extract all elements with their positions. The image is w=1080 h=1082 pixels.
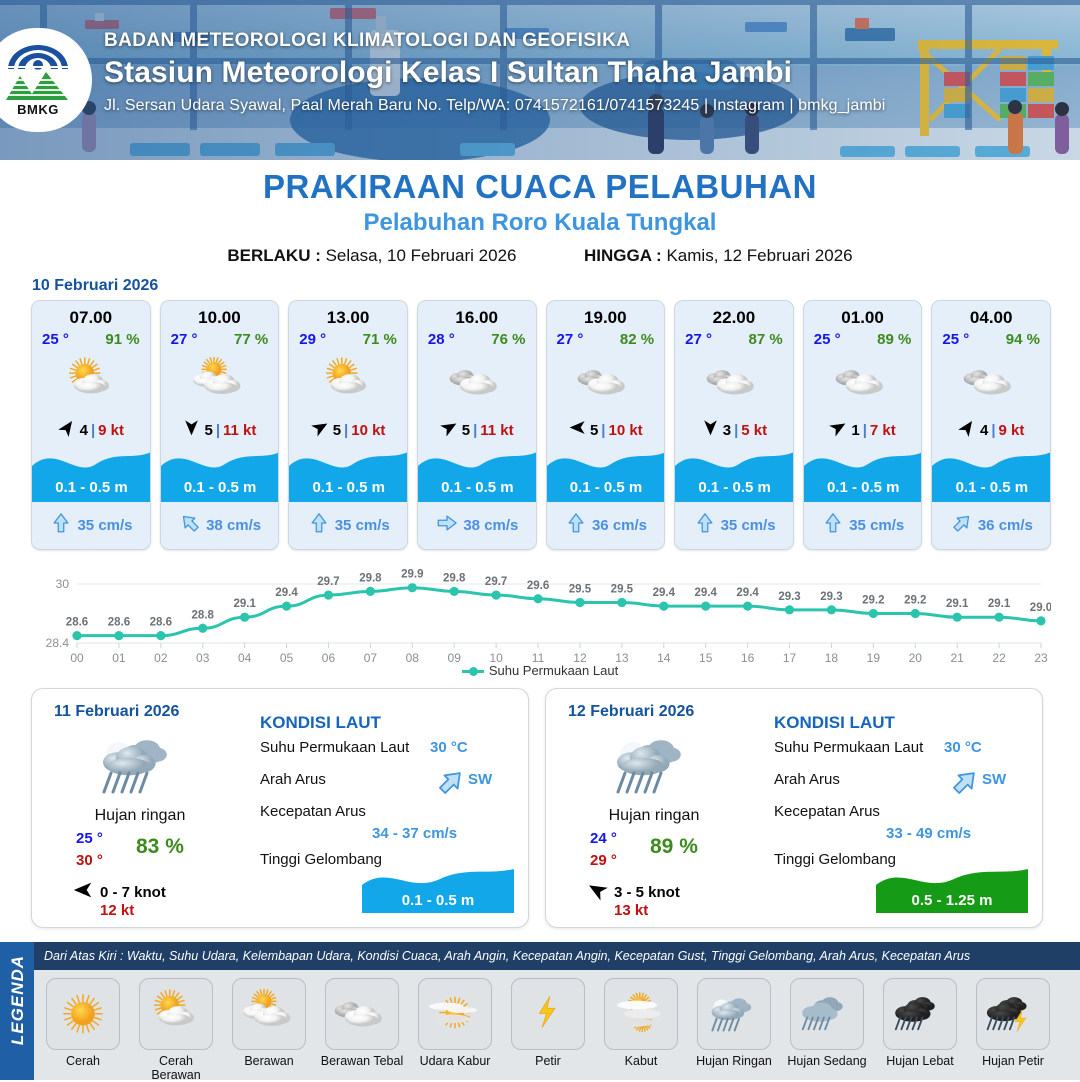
svg-text:29.2: 29.2 [904,595,926,607]
valid-from-value: Selasa, 10 Februari 2026 [326,246,517,265]
card-current-speed: 35 cm/s [335,517,390,534]
svg-text:29.1: 29.1 [233,598,256,610]
weather-icon-berawan-tebal [446,357,508,407]
card-current-row: 35 cm/s [32,509,151,541]
card-current-row: 38 cm/s [161,509,280,541]
card-current-speed: 36 cm/s [592,517,647,534]
current-direction-arrow [694,512,716,534]
svg-text:29.5: 29.5 [569,583,592,595]
svg-text:29.8: 29.8 [359,572,382,584]
card-current-speed: 35 cm/s [77,517,132,534]
header-text-block: BADAN METEOROLOGI KLIMATOLOGI DAN GEOFIS… [104,30,885,115]
daily-temp-min: 24 ° [590,830,617,847]
card-humidity: 71 % [363,331,397,348]
agency-name: BADAN METEOROLOGI KLIMATOLOGI DAN GEOFIS… [104,30,885,52]
svg-text:28.6: 28.6 [150,617,172,629]
daily-wave-graphic: 0.5 - 1.25 m [876,869,1028,913]
legend-item-label: Cerah Berawan [133,1054,219,1082]
legend-icon-box [232,978,306,1050]
daily-humidity: 83 % [136,835,184,859]
hourly-date-label: 10 Februari 2026 [32,277,158,295]
legend-item-label: Hujan Petir [970,1054,1056,1068]
card-temperature: 25 ° [942,331,969,348]
daily-gust: 13 kt [614,902,648,919]
svg-text:28.6: 28.6 [66,617,88,629]
daily-temp-max: 29 ° [590,852,617,869]
weather-icon-berawan-tebal [832,357,894,407]
card-current-speed: 36 cm/s [978,517,1033,534]
card-wave-graphic: 0.1 - 0.5 m [161,444,280,502]
daily-weather-icon [89,725,189,811]
weather-icon-berawan [188,357,250,407]
card-wind-speed: 10 kt [608,422,642,439]
svg-text:29.4: 29.4 [275,587,298,599]
weather-icon-hujan-petir [982,989,1044,1039]
weather-icon-berawan-tebal [703,357,765,407]
card-humidity: 82 % [620,331,654,348]
card-wind-direction: 4 [80,422,88,439]
card-temperature: 27 ° [171,331,198,348]
legend-item-label: Kabut [598,1054,684,1068]
svg-text:29.1: 29.1 [946,598,969,610]
daily-sea-section-title: KONDISI LAUT [260,713,381,733]
daily-sst-value: 30 °C [430,739,468,756]
legend-item-label: Hujan Ringan [691,1054,777,1068]
svg-text:29.4: 29.4 [695,587,718,599]
svg-text:29.0: 29.0 [1030,602,1051,614]
card-sep: | [91,422,95,439]
valid-until-value: Kamis, 12 Februari 2026 [666,246,852,265]
current-direction-arrow [565,512,587,534]
legend-item: Cerah [40,978,126,1082]
weather-icon-petir [517,989,579,1039]
card-time: 19.00 [547,308,665,328]
chart-legend-label: Suhu Permukaan Laut [489,663,618,678]
hourly-card[interactable]: 13.0029 °71 %5|10 kt0.1 - 0.5 m35 cm/s [288,300,408,550]
legend-item: Berawan [226,978,312,1082]
card-sep: | [601,422,605,439]
svg-text:29.6: 29.6 [527,580,549,592]
daily-current-dir-label: Arah Arus [774,771,840,788]
card-current-speed: 38 cm/s [206,517,261,534]
legend-item-label: Berawan Tebal [319,1054,405,1068]
daily-wave-value: 0.5 - 1.25 m [876,892,1028,909]
svg-text:30: 30 [56,577,70,591]
card-temperature: 25 ° [814,331,841,348]
card-wave-height: 0.1 - 0.5 m [675,472,794,502]
daily-wave-graphic: 0.1 - 0.5 m [362,869,514,913]
weather-icon-cerah [52,989,114,1039]
card-time: 22.00 [675,308,793,328]
daily-wave-label: Tinggi Gelombang [260,851,382,868]
daily-humidity: 89 % [650,835,698,859]
card-current-row: 35 cm/s [289,509,408,541]
legend-side-text: LEGENDA [8,944,28,1056]
wind-direction-arrow [586,879,608,901]
svg-text:28.8: 28.8 [192,609,215,621]
card-wind-direction: 5 [462,422,470,439]
card-wave-height: 0.1 - 0.5 m [161,472,280,502]
wind-direction-arrow [440,418,459,437]
hourly-card[interactable]: 04.0025 °94 %4|9 kt0.1 - 0.5 m36 cm/s [931,300,1051,550]
page-title: PRAKIRAAN CUACA PELABUHAN [0,168,1080,206]
sst-chart: 3028.40001020304050607080910111213141516… [31,558,1051,673]
svg-text:29.2: 29.2 [862,595,884,607]
card-current-row: 35 cm/s [804,509,923,541]
daily-temp-min: 25 ° [76,830,103,847]
current-direction-arrow [950,767,980,797]
card-humidity: 77 % [234,331,268,348]
weather-icon-hujan-ringan [89,725,189,805]
hourly-card[interactable]: 19.0027 °82 %5|10 kt0.1 - 0.5 m36 cm/s [546,300,666,550]
weather-icon-cerah-berawan [317,357,379,407]
card-temperature: 27 ° [685,331,712,348]
card-wave-graphic: 0.1 - 0.5 m [932,444,1051,502]
card-wind-speed: 7 kt [870,422,896,439]
card-weather-icon-slot [32,351,150,413]
legend-side-title: LEGENDA [0,942,34,1080]
legend-item-list: CerahCerah BerawanBerawanBerawan TebalUd… [34,978,1080,1082]
card-wave-height: 0.1 - 0.5 m [32,472,151,502]
card-wave-graphic: 0.1 - 0.5 m [804,444,923,502]
legend-icon-box [46,978,120,1050]
wind-direction-arrow [958,418,977,437]
card-wind-speed: 10 kt [351,422,385,439]
legend-note: Dari Atas Kiri : Waktu, Suhu Udara, Kele… [34,942,1080,970]
card-wind-row: 5|11 kt [161,415,279,445]
hourly-card[interactable]: 01.0025 °89 %1|7 kt0.1 - 0.5 m35 cm/s [803,300,923,550]
card-time: 01.00 [804,308,922,328]
daily-wave-label: Tinggi Gelombang [774,851,896,868]
current-direction-arrow [50,512,72,534]
card-wave-graphic: 0.1 - 0.5 m [418,444,537,502]
legend-item-label: Hujan Lebat [877,1054,963,1068]
daily-date: 12 Februari 2026 [568,703,694,721]
card-wave-height: 0.1 - 0.5 m [932,472,1051,502]
legend-item-label: Udara Kabur [412,1054,498,1068]
daily-temp-max: 30 ° [76,852,103,869]
daily-condition: Hujan ringan [50,807,230,825]
daily-condition: Hujan ringan [564,807,744,825]
daily-weather-icon [603,725,703,811]
weather-icon-udara-kabur [424,989,486,1039]
legend-icon-box [604,978,678,1050]
daily-current-speed-value: 34 - 37 cm/s [372,825,457,842]
weather-icon-berawan-tebal [574,357,636,407]
daily-wind-speed: 3 - 5 knot [614,884,680,901]
wind-direction-arrow [568,418,587,437]
svg-text:29.4: 29.4 [653,587,676,599]
card-current-speed: 35 cm/s [721,517,776,534]
card-current-speed: 35 cm/s [849,517,904,534]
card-time: 16.00 [418,308,536,328]
card-wave-height: 0.1 - 0.5 m [804,472,923,502]
daily-wave-value: 0.1 - 0.5 m [362,892,514,909]
hourly-forecast-row: 07.0025 °91 %4|9 kt0.1 - 0.5 m35 cm/s10.… [31,300,1051,548]
page-header: BMKG BADAN METEOROLOGI KLIMATOLOGI DAN G… [0,0,1080,160]
card-weather-icon-slot [418,351,536,413]
daily-wind-speed: 0 - 7 knot [100,884,166,901]
legend-icon-box [511,978,585,1050]
legend-item: Kabut [598,978,684,1082]
weather-icon-berawan [238,989,300,1039]
card-sep: | [863,422,867,439]
weather-icon-berawan-tebal [331,989,393,1039]
svg-text:29.4: 29.4 [736,587,759,599]
card-weather-icon-slot [289,351,407,413]
card-wave-graphic: 0.1 - 0.5 m [289,444,408,502]
card-wave-graphic: 0.1 - 0.5 m [675,444,794,502]
card-humidity: 89 % [877,331,911,348]
wind-direction-arrow [182,418,201,437]
weather-icon-hujan-ringan [703,989,765,1039]
weather-icon-hujan-ringan [603,725,703,805]
svg-text:28.6: 28.6 [108,617,130,629]
weather-icon-cerah-berawan [60,357,122,407]
card-current-row: 38 cm/s [418,509,537,541]
card-current-row: 36 cm/s [547,509,666,541]
card-wind-row: 4|9 kt [932,415,1050,445]
card-weather-icon-slot [804,351,922,413]
card-temperature: 27 ° [557,331,584,348]
card-wind-speed: 11 kt [223,422,256,439]
weather-icon-hujan-sedang [796,989,858,1039]
card-sep: | [991,422,995,439]
card-wind-direction: 4 [980,422,988,439]
daily-panel-2: 12 Februari 2026Hujan ringan24 °29 °89 %… [545,688,1043,928]
legend-item-label: Hujan Sedang [784,1054,870,1068]
daily-date: 11 Februari 2026 [54,703,179,721]
legend-item-label: Berawan [226,1054,312,1068]
card-time: 04.00 [932,308,1050,328]
legend-icon-box [418,978,492,1050]
svg-text:28.4: 28.4 [46,636,70,650]
legend-item: Cerah Berawan [133,978,219,1082]
card-temperature: 28 ° [428,331,455,348]
card-sep: | [216,422,220,439]
card-wave-graphic: 0.1 - 0.5 m [547,444,666,502]
svg-text:29.8: 29.8 [443,572,466,584]
card-wind-speed: 5 kt [741,422,767,439]
daily-gust: 12 kt [100,902,134,919]
card-wave-height: 0.1 - 0.5 m [289,472,408,502]
legend-item: Udara Kabur [412,978,498,1082]
wind-direction-arrow [701,418,720,437]
legend-icon-box [697,978,771,1050]
card-wave-height: 0.1 - 0.5 m [547,472,666,502]
card-humidity: 76 % [491,331,525,348]
legend-item: Hujan Sedang [784,978,870,1082]
current-direction-arrow [436,767,466,797]
card-wind-row: 1|7 kt [804,415,922,445]
current-direction-arrow [308,512,330,534]
card-wind-speed: 9 kt [98,422,124,439]
card-wind-row: 4|9 kt [32,415,150,445]
daily-current-dir-label: Arah Arus [260,771,326,788]
weather-icon-cerah-berawan [145,989,207,1039]
daily-current-speed-value: 33 - 49 cm/s [886,825,971,842]
card-wind-direction: 5 [204,422,212,439]
daily-current-dir-value: SW [982,771,1006,788]
current-direction-arrow [179,512,201,534]
svg-text:29.3: 29.3 [820,591,842,603]
card-wind-row: 3|5 kt [675,415,793,445]
daily-sst-label: Suhu Permukaan Laut [260,739,409,756]
svg-text:29.3: 29.3 [778,591,800,603]
card-weather-icon-slot [932,351,1050,413]
valid-until-label: HINGGA : [584,246,662,265]
card-humidity: 91 % [105,331,139,348]
card-wind-direction: 3 [723,422,731,439]
hourly-card[interactable]: 16.0028 °76 %5|11 kt0.1 - 0.5 m38 cm/s [417,300,537,550]
station-name: Stasiun Meteorologi Kelas I Sultan Thaha… [104,56,885,90]
current-direction-arrow [822,512,844,534]
svg-text:29.9: 29.9 [401,569,423,581]
legend-item: Petir [505,978,591,1082]
card-wind-row: 5|11 kt [418,415,536,445]
legend-item: Berawan Tebal [319,978,405,1082]
daily-sst-value: 30 °C [944,739,982,756]
wind-direction-arrow [311,418,330,437]
card-humidity: 87 % [749,331,783,348]
svg-text:29.1: 29.1 [988,598,1011,610]
card-sep: | [473,422,477,439]
card-wave-height: 0.1 - 0.5 m [418,472,537,502]
svg-text:29.5: 29.5 [611,583,634,595]
card-wind-row: 5|10 kt [289,415,407,445]
daily-sea-section-title: KONDISI LAUT [774,713,895,733]
legend-item-label: Petir [505,1054,591,1068]
wind-direction-arrow [829,418,848,437]
card-time: 13.00 [289,308,407,328]
card-current-row: 35 cm/s [675,509,794,541]
daily-panel-1: 11 Februari 2026Hujan ringan25 °30 °83 %… [31,688,529,928]
legend-item: Hujan Ringan [691,978,777,1082]
card-current-speed: 38 cm/s [463,517,518,534]
card-current-row: 36 cm/s [932,509,1051,541]
card-wind-direction: 5 [590,422,598,439]
chart-svg: 3028.40001020304050607080910111213141516… [31,558,1051,673]
card-humidity: 94 % [1006,331,1040,348]
card-wind-row: 5|10 kt [547,415,665,445]
daily-current-speed-label: Kecepatan Arus [260,803,366,820]
valid-from-label: BERLAKU : [227,246,321,265]
chart-legend: Suhu Permukaan Laut [0,663,1080,678]
card-wind-direction: 1 [851,422,859,439]
card-sep: | [344,422,348,439]
station-address: Jl. Sersan Udara Syawal, Paal Merah Baru… [104,97,885,115]
legend-icon-box [976,978,1050,1050]
weather-icon-hujan-lebat [889,989,951,1039]
legend-icon-box [883,978,957,1050]
card-weather-icon-slot [675,351,793,413]
legend-icon-box [139,978,213,1050]
daily-current-dir-value: SW [468,771,492,788]
card-temperature: 29 ° [299,331,326,348]
legend-item: Hujan Lebat [877,978,963,1082]
hourly-card[interactable]: 10.0027 °77 %5|11 kt0.1 - 0.5 m38 cm/s [160,300,280,550]
wind-direction-arrow [72,879,94,901]
card-weather-icon-slot [161,351,279,413]
svg-text:29.7: 29.7 [317,576,339,588]
card-time: 07.00 [32,308,150,328]
chart-legend-marker [462,670,484,673]
wind-direction-arrow [58,418,77,437]
daily-current-speed-label: Kecepatan Arus [774,803,880,820]
title-block: PRAKIRAAN CUACA PELABUHAN Pelabuhan Roro… [0,168,1080,266]
legend-icon-box [790,978,864,1050]
daily-sst-label: Suhu Permukaan Laut [774,739,923,756]
legend-item: Hujan Petir [970,978,1056,1082]
validity-row: BERLAKU : Selasa, 10 Februari 2026 HINGG… [0,246,1080,266]
hourly-card[interactable]: 07.0025 °91 %4|9 kt0.1 - 0.5 m35 cm/s [31,300,151,550]
legend-icon-box [325,978,399,1050]
page-subtitle: Pelabuhan Roro Kuala Tungkal [0,209,1080,237]
current-direction-arrow [436,512,458,534]
weather-icon-kabut [610,989,672,1039]
hourly-card[interactable]: 22.0027 °87 %3|5 kt0.1 - 0.5 m35 cm/s [674,300,794,550]
card-sep: | [734,422,738,439]
current-direction-arrow [951,512,973,534]
legend-item-label: Cerah [40,1054,126,1068]
card-wind-speed: 11 kt [480,422,513,439]
svg-text:29.7: 29.7 [485,576,507,588]
weather-icon-berawan-tebal [960,357,1022,407]
card-weather-icon-slot [547,351,665,413]
card-temperature: 25 ° [42,331,69,348]
card-wind-direction: 5 [333,422,341,439]
card-wind-speed: 9 kt [999,422,1025,439]
logo-label: BMKG [17,102,59,117]
card-time: 10.00 [161,308,279,328]
card-wave-graphic: 0.1 - 0.5 m [32,444,151,502]
